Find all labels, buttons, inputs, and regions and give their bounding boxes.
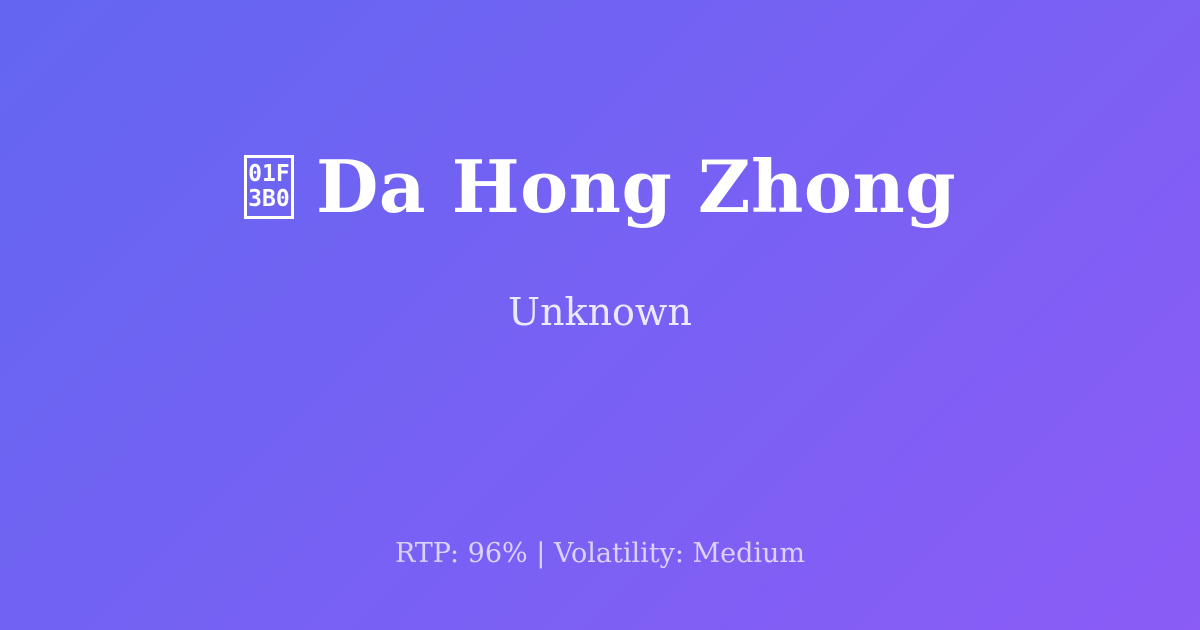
tofu-codepoint-low: 3B0: [248, 187, 290, 212]
title-row: 01F 3B0 Da Hong Zhong: [244, 148, 956, 226]
game-stats-line: RTP: 96% | Volatility: Medium: [395, 538, 805, 570]
card-center-block: 01F 3B0 Da Hong Zhong Unknown: [0, 0, 1200, 484]
card-subtitle: Unknown: [508, 290, 692, 336]
card-footer: RTP: 96% | Volatility: Medium: [0, 538, 1200, 570]
slot-machine-icon: 01F 3B0: [244, 155, 294, 219]
page-title: Da Hong Zhong: [316, 148, 956, 226]
game-preview-card: 01F 3B0 Da Hong Zhong Unknown RTP: 96% |…: [0, 0, 1200, 630]
tofu-codepoint-high: 01F: [248, 162, 290, 187]
